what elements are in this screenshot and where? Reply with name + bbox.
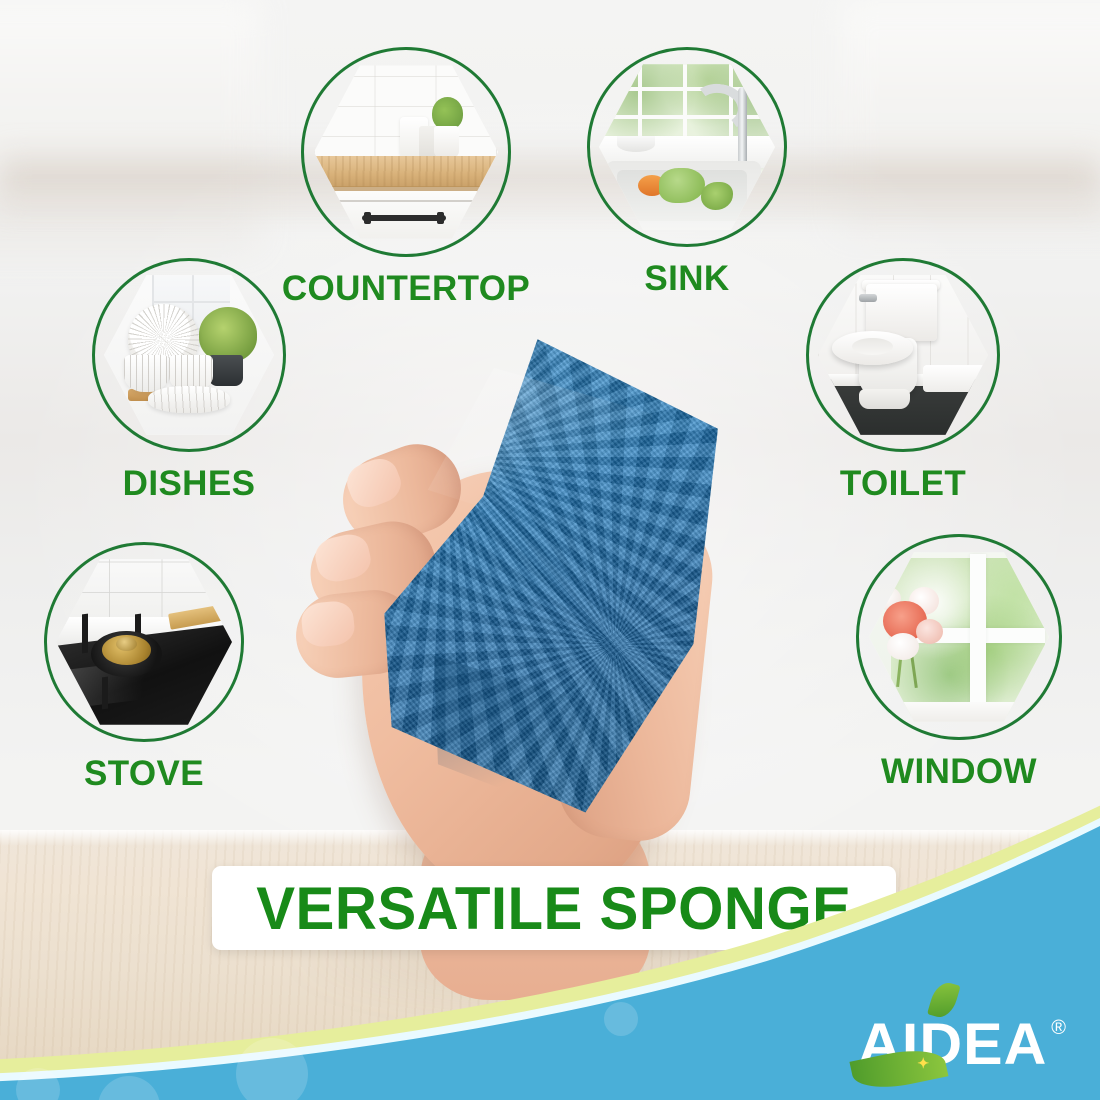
feature-badge-countertop: COUNTERTOP: [301, 47, 511, 257]
feature-badge-toilet: TOILET: [806, 258, 1000, 452]
brand-logo-text: AIDEA ✦: [858, 1016, 1047, 1074]
feature-label-stove: STOVE: [84, 754, 204, 794]
feature-badge-sink: SINK: [587, 47, 787, 247]
headline-text: VERSATILE SPONGE: [256, 874, 851, 943]
product-infographic: COUNTERTOP SINK: [0, 0, 1100, 1100]
sparkle-icon: ✦: [917, 1056, 931, 1070]
feature-label-countertop: COUNTERTOP: [282, 269, 530, 309]
feature-label-window: WINDOW: [881, 752, 1037, 792]
feature-label-toilet: TOILET: [840, 464, 966, 504]
bubble-decor-4: [604, 1002, 638, 1036]
hand-holding-sponge: [270, 330, 790, 950]
headline-banner: VERSATILE SPONGE: [212, 866, 896, 950]
registered-trademark-symbol: ®: [1051, 1017, 1066, 1040]
feature-label-sink: SINK: [644, 259, 729, 299]
feature-badge-dishes: DISHES: [92, 258, 286, 452]
brand-logo: AIDEA ✦ ®: [860, 1016, 1066, 1074]
feature-badge-window: WINDOW: [856, 534, 1062, 740]
feature-badge-stove: STOVE: [44, 542, 244, 742]
bubble-decor-3: [236, 1038, 308, 1100]
feature-label-dishes: DISHES: [123, 464, 256, 504]
